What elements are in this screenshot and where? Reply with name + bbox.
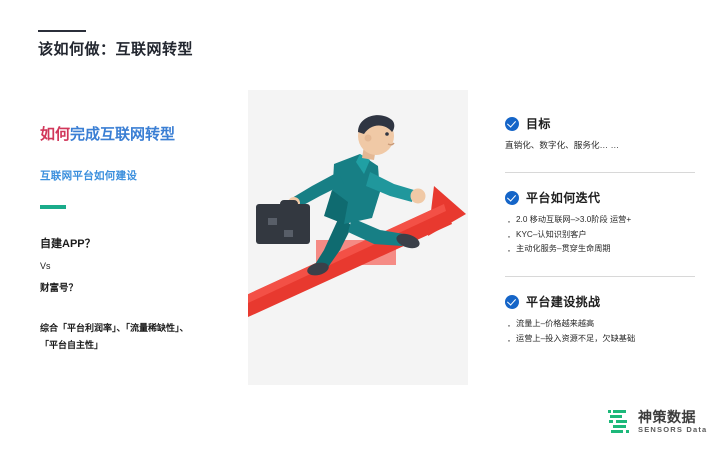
check-circle-icon xyxy=(505,117,519,131)
section-platform-iteration-title: 平台如何迭代 xyxy=(526,189,600,206)
brand-name-en: SENSORS Data xyxy=(638,426,707,434)
section-platform-challenges-bullets: 流量上–价格越来越高 运营上–投入资源不足，欠缺基础 xyxy=(505,317,695,346)
title-rule xyxy=(38,30,86,32)
section-divider-1 xyxy=(505,172,695,173)
left-vs-label: Vs xyxy=(40,261,225,271)
briefcase-latch-left xyxy=(268,218,277,225)
section-goal: 目标 直销化、数字化、服务化… … xyxy=(505,115,695,152)
section-goal-title: 目标 xyxy=(526,115,551,132)
businessman-running-on-rising-arrow-illustration xyxy=(248,90,468,385)
left-heading: 如何完成互联网转型 xyxy=(40,125,225,145)
brand-name-cn: 神策数据 xyxy=(638,410,707,424)
left-heading-blue-part: 完成互联网转型 xyxy=(70,126,175,143)
section-platform-iteration-header: 平台如何迭代 xyxy=(505,189,695,206)
left-question-1: 自建APP？ xyxy=(40,235,225,251)
briefcase-latch-right xyxy=(284,230,293,237)
section-platform-iteration-bullets: 2.0 移动互联网–>3.0阶段 运营+ KYC–认知识别客户 主动化服务–贯穿… xyxy=(505,213,695,256)
figure-eye xyxy=(385,132,389,136)
left-heading-red-part: 如何 xyxy=(40,126,70,143)
accent-dash xyxy=(40,205,66,209)
figure-front-hand xyxy=(411,189,426,204)
section-platform-iteration: 平台如何迭代 2.0 移动互联网–>3.0阶段 运营+ KYC–认知识别客户 主… xyxy=(505,189,695,256)
figure-ear xyxy=(365,135,372,142)
page-title: 该如何做：互联网转型 xyxy=(38,38,193,59)
left-note: 综合「平台利润率」、「流量稀缺性」、「平台自主性」 xyxy=(40,320,190,354)
briefcase-body xyxy=(256,204,310,244)
section-platform-challenges-title: 平台建设挑战 xyxy=(526,293,600,310)
list-item: KYC–认知识别客户 xyxy=(505,228,695,242)
right-content-column: 目标 直销化、数字化、服务化… … 平台如何迭代 2.0 移动互联网–>3.0阶… xyxy=(505,115,695,346)
section-goal-body: 直销化、数字化、服务化… … xyxy=(505,139,695,152)
list-item: 2.0 移动互联网–>3.0阶段 运营+ xyxy=(505,213,695,227)
check-circle-icon xyxy=(505,295,519,309)
section-platform-challenges-header: 平台建设挑战 xyxy=(505,293,695,310)
brand-logo-text: 神策数据 SENSORS Data xyxy=(638,410,707,434)
section-goal-header: 目标 xyxy=(505,115,695,132)
section-divider-2 xyxy=(505,276,695,277)
list-item: 主动化服务–贯穿生命周期 xyxy=(505,242,695,256)
list-item: 流量上–价格越来越高 xyxy=(505,317,695,331)
left-question-2: 财富号？ xyxy=(40,280,225,294)
brand-logo: 神策数据 SENSORS Data xyxy=(607,409,707,435)
section-platform-challenges: 平台建设挑战 流量上–价格越来越高 运营上–投入资源不足，欠缺基础 xyxy=(505,293,695,346)
check-circle-icon xyxy=(505,191,519,205)
list-item: 运营上–投入资源不足，欠缺基础 xyxy=(505,332,695,346)
left-text-column: 如何完成互联网转型 互联网平台如何建设 自建APP？ Vs 财富号？ 综合「平台… xyxy=(40,125,225,354)
sensors-s-mark-icon xyxy=(607,409,631,435)
illustration-panel xyxy=(248,90,468,385)
left-subheading: 互联网平台如何建设 xyxy=(40,168,225,183)
